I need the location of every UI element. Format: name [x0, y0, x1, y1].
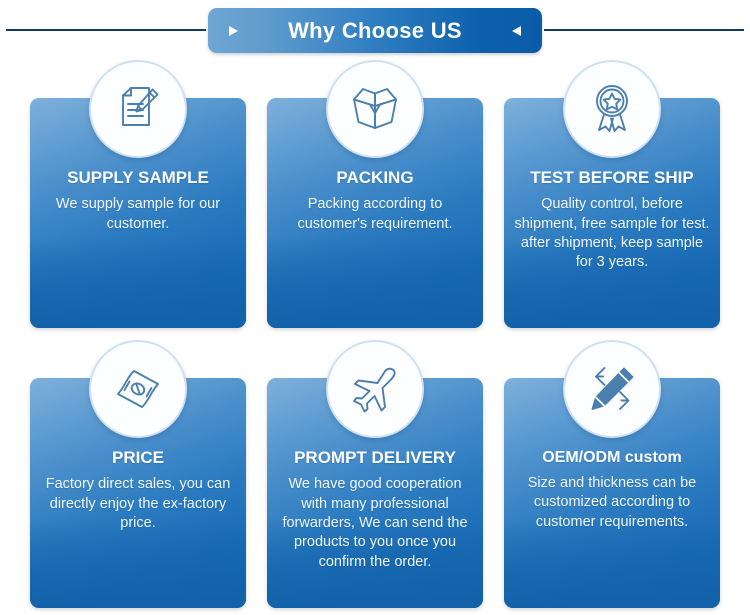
feature-cell: TEST BEFORE SHIP Quality control, before… — [504, 60, 720, 338]
feature-card-title: PRICE — [38, 448, 238, 468]
feature-cell: PROMPT DELIVERY We have good cooperation… — [267, 340, 483, 615]
triangle-right-icon — [229, 26, 238, 36]
feature-card-text: SUPPLY SAMPLE We supply sample for our c… — [38, 168, 238, 234]
feature-card-desc: Packing according to customer's requirem… — [275, 195, 475, 234]
feature-icon-badge — [89, 60, 187, 158]
feature-card-text: TEST BEFORE SHIP Quality control, before… — [512, 168, 712, 273]
feature-cell: OEM/ODM custom Size and thickness can be… — [504, 340, 720, 615]
feature-icon-badge — [563, 60, 661, 158]
feature-card-desc: We supply sample for our customer. — [38, 195, 238, 234]
feature-cell: PACKING Packing according to customer's … — [267, 60, 483, 338]
feature-icon-badge — [326, 340, 424, 438]
header-banner: Why Choose US — [208, 8, 542, 53]
open-box-icon — [346, 80, 404, 138]
feature-row-top: SUPPLY SAMPLE We supply sample for our c… — [0, 60, 750, 338]
banknote-dollar-icon — [109, 360, 167, 418]
feature-card-title: TEST BEFORE SHIP — [512, 168, 712, 188]
triangle-left-icon — [512, 26, 521, 36]
feature-card-desc: We have good cooperation with many profe… — [275, 475, 475, 571]
feature-card-title: SUPPLY SAMPLE — [38, 168, 238, 188]
page-title: Why Choose US — [288, 18, 462, 44]
feature-card-desc: Quality control, before shipment, free s… — [512, 195, 712, 272]
feature-card-title: PACKING — [275, 168, 475, 188]
document-pencil-icon — [109, 80, 167, 138]
feature-card-title: OEM/ODM custom — [512, 448, 712, 467]
header-rule-right — [544, 29, 744, 31]
header: Why Choose US — [0, 0, 750, 60]
feature-card-text: PRICE Factory direct sales, you can dire… — [38, 448, 238, 533]
feature-icon-badge — [89, 340, 187, 438]
feature-cell: PRICE Factory direct sales, you can dire… — [30, 340, 246, 615]
feature-grid: SUPPLY SAMPLE We supply sample for our c… — [0, 60, 750, 615]
feature-card-title: PROMPT DELIVERY — [275, 448, 475, 468]
award-ribbon-star-icon — [583, 80, 641, 138]
feature-card-text: OEM/ODM custom Size and thickness can be… — [512, 448, 712, 532]
feature-card-text: PROMPT DELIVERY We have good cooperation… — [275, 448, 475, 572]
feature-card-desc: Factory direct sales, you can directly e… — [38, 475, 238, 533]
feature-cell: SUPPLY SAMPLE We supply sample for our c… — [30, 60, 246, 338]
feature-icon-badge — [326, 60, 424, 158]
pencil-measure-icon — [583, 360, 641, 418]
why-choose-us-infographic: Why Choose US SUPPLY SAMPLE We supply sa… — [0, 0, 750, 615]
feature-card-desc: Size and thickness can be customized acc… — [512, 474, 712, 532]
feature-row-bottom: PRICE Factory direct sales, you can dire… — [0, 340, 750, 615]
feature-card-text: PACKING Packing according to customer's … — [275, 168, 475, 234]
airplane-icon — [346, 360, 404, 418]
feature-icon-badge — [563, 340, 661, 438]
header-rule-left — [6, 29, 206, 31]
